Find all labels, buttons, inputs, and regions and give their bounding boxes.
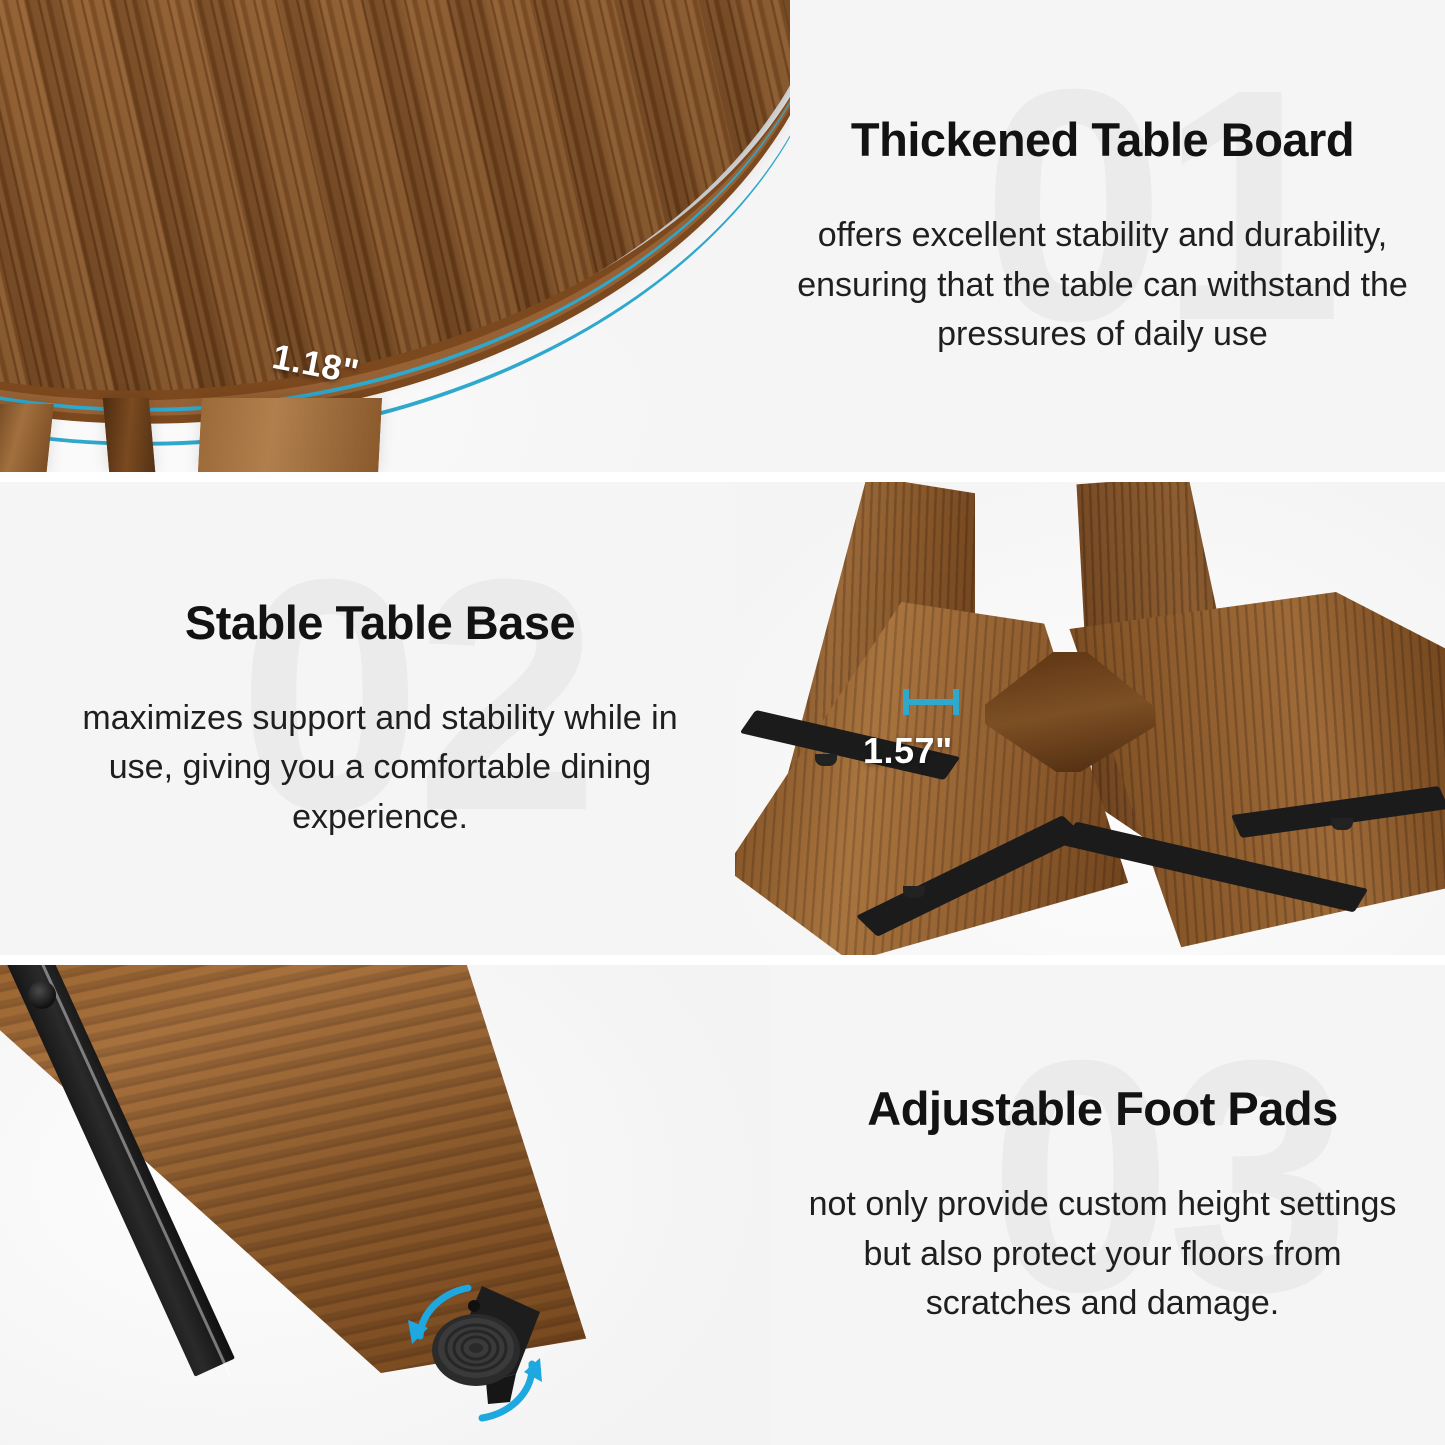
panel-divider: [0, 955, 1445, 965]
dimension-label-thickness: 1.57": [863, 730, 953, 772]
feature-heading-01: Thickened Table Board: [851, 112, 1354, 167]
foot-nub: [903, 886, 925, 898]
feature-heading-02: Stable Table Base: [185, 595, 575, 650]
feature-body-02: maximizes support and stability while in…: [60, 694, 700, 843]
dimension-ibeam-icon: [900, 687, 962, 717]
feature-body-01: offers excellent stability and durabilit…: [786, 211, 1419, 360]
feature-panel-02: 02 Stable Table Base maximizes support a…: [0, 482, 1445, 955]
feature-body-03: not only provide custom height settings …: [786, 1180, 1419, 1329]
foot-nub: [1331, 818, 1353, 830]
table-top-photo: 1.18": [0, 0, 790, 472]
mounting-screw: [28, 981, 56, 1009]
product-feature-infographic: 1.18" 01 Thickened Table Board offers ex…: [0, 0, 1445, 1445]
foot-pad-photo: [0, 965, 770, 1445]
panel-divider: [0, 472, 1445, 482]
feature-text-02: 02 Stable Table Base maximizes support a…: [0, 482, 760, 955]
foot-nub: [815, 754, 837, 766]
table-leg: [103, 398, 155, 472]
table-base-photo: 1.57": [735, 482, 1445, 955]
feature-text-01: 01 Thickened Table Board offers excellen…: [760, 0, 1445, 472]
pedestal-base: 1.57": [735, 482, 1445, 955]
adjustable-foot-pad: [390, 1278, 600, 1443]
feature-panel-01: 1.18" 01 Thickened Table Board offers ex…: [0, 0, 1445, 472]
feature-text-03: 03 Adjustable Foot Pads not only provide…: [760, 965, 1445, 1445]
feature-heading-03: Adjustable Foot Pads: [867, 1081, 1338, 1136]
feature-panel-03: 03 Adjustable Foot Pads not only provide…: [0, 965, 1445, 1445]
table-leg: [0, 404, 54, 472]
table-leg: [198, 398, 382, 472]
